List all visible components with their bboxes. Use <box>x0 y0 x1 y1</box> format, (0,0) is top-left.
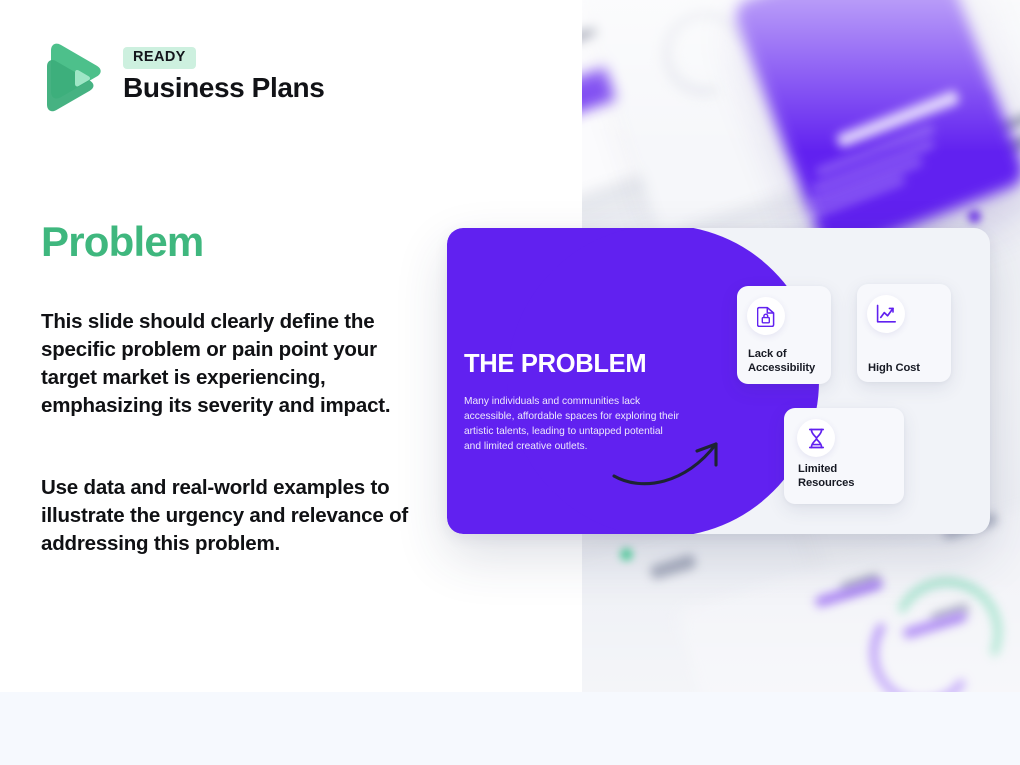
play-triangle-logo-icon <box>41 38 109 112</box>
brand-text-column: READY Business Plans <box>123 47 324 103</box>
line-chart-icon <box>867 295 905 333</box>
feature-card-label: Limited Resources <box>798 463 893 490</box>
feature-card-label: High Cost <box>868 362 954 376</box>
description-paragraph-1: This slide should clearly define the spe… <box>41 308 431 420</box>
slide-preview-canvas: READY Business Plans Problem This slide … <box>0 0 1020 765</box>
slide-thumbnail-card[interactable]: THE PROBLEM Many individuals and communi… <box>447 228 990 534</box>
brand-lockup: READY Business Plans <box>41 38 324 112</box>
ready-badge: READY <box>123 47 196 69</box>
bottom-strip <box>0 692 1020 765</box>
feature-card-high-cost[interactable]: High Cost <box>857 284 951 382</box>
description-paragraph-2: Use data and real-world examples to illu… <box>41 474 431 558</box>
curved-arrow-icon <box>612 418 737 490</box>
feature-card-lack-of-accessibility[interactable]: Lack of Accessibility <box>737 286 831 384</box>
bg-dot-green <box>620 548 633 561</box>
hourglass-icon <box>797 419 835 457</box>
slide-heading: THE PROBLEM <box>464 350 646 379</box>
feature-card-limited-resources[interactable]: Limited Resources <box>784 408 904 504</box>
document-lock-icon <box>747 297 785 335</box>
page-title: Problem <box>41 218 203 266</box>
bg-dot-purple-2 <box>968 210 981 223</box>
brand-name: Business Plans <box>123 72 324 103</box>
feature-card-label: Lack of Accessibility <box>748 348 834 375</box>
